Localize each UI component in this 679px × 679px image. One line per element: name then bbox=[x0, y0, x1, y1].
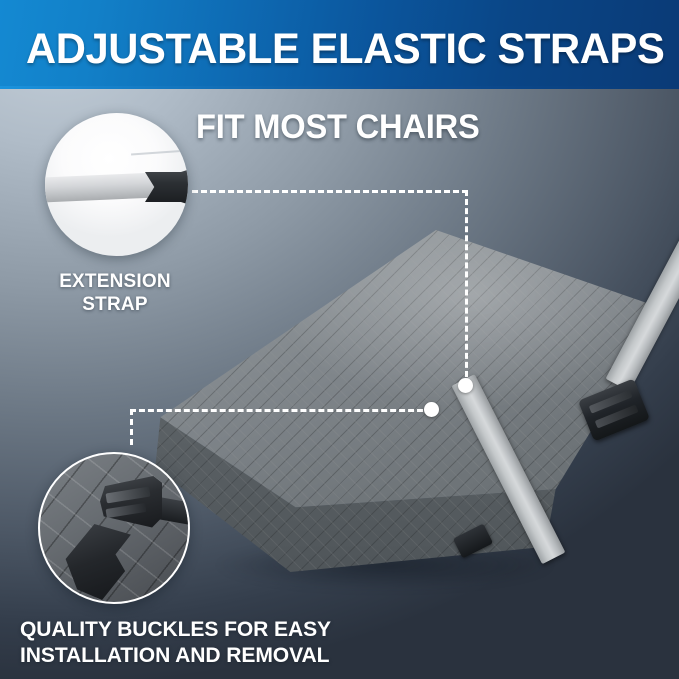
connector-dot-buckles bbox=[424, 402, 439, 417]
connector-line-extension-vertical bbox=[465, 190, 468, 386]
elastic-strap-upper bbox=[606, 189, 679, 392]
banner-title: ADJUSTABLE ELASTIC STRAPS bbox=[26, 24, 647, 74]
caption-extension-strap: EXTENSION STRAP bbox=[40, 270, 190, 316]
inset-strap-shadow-line bbox=[131, 149, 188, 156]
connector-line-buckles-horizontal bbox=[130, 409, 432, 412]
header-banner: ADJUSTABLE ELASTIC STRAPS bbox=[0, 0, 679, 89]
connector-line-buckles-vertical bbox=[130, 409, 133, 445]
connector-dot-extension bbox=[458, 378, 473, 393]
caption-quality-buckles: QUALITY BUCKLES FOR EASY INSTALLATION AN… bbox=[20, 616, 432, 668]
inset-webbing-strap bbox=[45, 172, 157, 202]
product-infographic: ADJUSTABLE ELASTIC STRAPS FIT MOST CHAIR… bbox=[0, 0, 679, 679]
connector-line-extension-horizontal bbox=[192, 190, 468, 193]
inset-quality-buckles-photo bbox=[38, 452, 190, 604]
headline-text: FIT MOST CHAIRS bbox=[196, 108, 480, 147]
inset-extension-strap-photo bbox=[45, 113, 188, 256]
